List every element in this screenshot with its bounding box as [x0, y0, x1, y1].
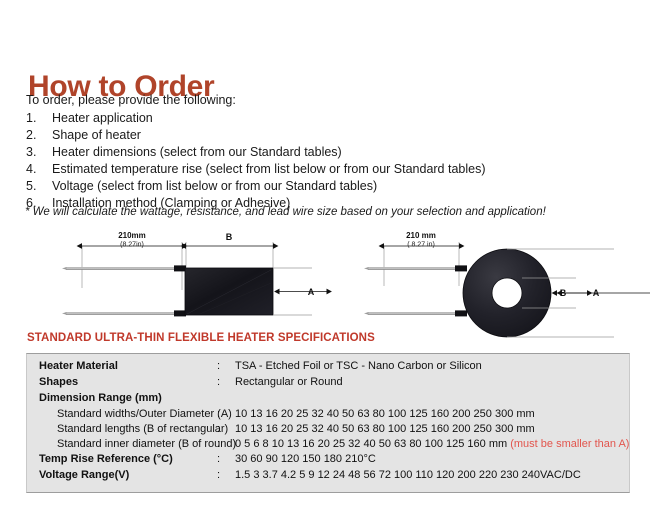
rect-lead-length-mm: 210mm	[118, 231, 146, 240]
spec-label: Temp Rise Reference (°C)	[27, 453, 217, 465]
spec-value: 30 60 90 120 150 180 210°C	[235, 453, 629, 465]
rectangular-heater-diagram: 210mm (8.27in) B A	[62, 231, 327, 316]
round-inner-diameter-label: B	[560, 288, 567, 298]
list-item: 2. Shape of heater	[26, 127, 626, 144]
order-requirements-list: 1. Heater application 2. Shape of heater…	[26, 110, 626, 212]
intro-text: To order, please provide the following:	[26, 92, 236, 108]
spec-label: Shapes	[27, 376, 217, 388]
round-lead-length-mm: 210 mm	[406, 231, 436, 240]
spec-value: 10 13 16 20 25 32 40 50 63 80 100 125 16…	[235, 408, 629, 420]
footnote-text: * We will calculate the wattage, resista…	[25, 205, 546, 219]
spec-colon: :	[217, 469, 235, 481]
list-item-label: Estimated temperature rise (select from …	[52, 161, 486, 178]
list-item-label: Voltage (select from list below or from …	[52, 178, 377, 195]
round-heater-hole	[492, 278, 522, 308]
table-row: Standard inner diameter (B of round) : 0…	[27, 438, 629, 453]
spec-colon: :	[217, 438, 235, 450]
spec-colon: :	[217, 453, 235, 465]
heater-diagrams: 210mm (8.27in) B A	[0, 228, 650, 338]
spec-value: 10 13 16 20 25 32 40 50 63 80 100 125 16…	[235, 423, 629, 435]
list-item: 3. Heater dimensions (select from our St…	[26, 144, 626, 161]
table-row: Standard widths/Outer Diameter (A) : 10 …	[27, 408, 629, 423]
rect-height-label: A	[308, 287, 315, 297]
spec-colon: :	[217, 360, 235, 372]
rect-width-label: B	[226, 232, 233, 242]
list-item-label: Shape of heater	[52, 127, 141, 144]
spec-section-header: STANDARD ULTRA-THIN FLEXIBLE HEATER SPEC…	[27, 332, 375, 344]
table-row: Temp Rise Reference (°C) : 30 60 90 120 …	[27, 453, 629, 469]
list-item: 4. Estimated temperature rise (select fr…	[26, 161, 626, 178]
spec-label: Standard lengths (B of rectangular)	[27, 423, 217, 435]
round-heater-diagram: 210 mm ( 8.27 in) B A	[364, 231, 650, 337]
spec-colon: :	[217, 408, 235, 420]
list-item-label: Heater dimensions (select from our Stand…	[52, 144, 342, 161]
list-item-number: 4.	[26, 161, 52, 178]
rect-lead-length-in: (8.27in)	[120, 242, 144, 249]
table-row: Standard lengths (B of rectangular) : 10…	[27, 423, 629, 438]
table-row: Shapes : Rectangular or Round	[27, 376, 629, 392]
heater-diagrams-svg: 210mm (8.27in) B A	[0, 228, 650, 338]
spec-value: 0 5 6 8 10 13 16 20 25 32 40 50 63 80 10…	[235, 438, 629, 450]
spec-value: TSA - Etched Foil or TSC - Nano Carbon o…	[235, 360, 629, 372]
spec-value: Rectangular or Round	[235, 376, 629, 388]
spec-colon: :	[217, 423, 235, 435]
list-item-number: 1.	[26, 110, 52, 127]
spec-label: Dimension Range (mm)	[27, 392, 217, 404]
spec-value: 1.5 3 3.7 4.2 5 9 12 24 48 56 72 100 110…	[235, 469, 629, 481]
table-row: Heater Material : TSA - Etched Foil or T…	[27, 360, 629, 376]
table-row: Dimension Range (mm)	[27, 392, 629, 408]
list-item-number: 3.	[26, 144, 52, 161]
list-item-number: 5.	[26, 178, 52, 195]
spec-colon: :	[217, 376, 235, 388]
table-row: Voltage Range(V) : 1.5 3 3.7 4.2 5 9 12 …	[27, 469, 629, 485]
spec-label: Standard widths/Outer Diameter (A)	[27, 408, 217, 420]
list-item-number: 2.	[26, 127, 52, 144]
round-lead-length-in: ( 8.27 in)	[407, 242, 435, 249]
round-outer-diameter-label: A	[593, 288, 600, 298]
spec-table: Heater Material : TSA - Etched Foil or T…	[26, 353, 630, 493]
list-item-label: Heater application	[52, 110, 153, 127]
spec-label: Standard inner diameter (B of round)	[27, 438, 217, 450]
spec-label: Heater Material	[27, 360, 217, 372]
list-item: 5. Voltage (select from list below or fr…	[26, 178, 626, 195]
spec-label: Voltage Range(V)	[27, 469, 217, 481]
page-root: How to Order To order, please provide th…	[0, 0, 650, 523]
inner-diameter-note: (must be smaller than A)	[510, 438, 629, 450]
list-item: 1. Heater application	[26, 110, 626, 127]
